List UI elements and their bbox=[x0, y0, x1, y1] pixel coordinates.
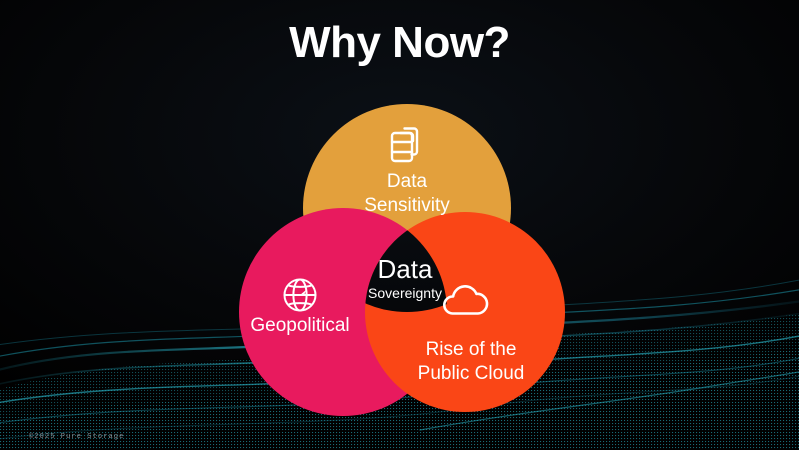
slide-canvas: Why Now? bbox=[0, 0, 799, 450]
data-sensitivity-label-line2: Sensitivity bbox=[364, 195, 450, 216]
public-cloud-label-line2: Public Cloud bbox=[418, 363, 525, 384]
data-sensitivity-label-line1: Data bbox=[387, 171, 428, 192]
copyright-footer: ©2025 Pure Storage bbox=[29, 433, 124, 441]
center-label-data: Data bbox=[378, 254, 433, 284]
venn-diagram: Data Sensitivity Geopolitical Rise of th… bbox=[0, 0, 799, 450]
geopolitical-label: Geopolitical bbox=[250, 315, 349, 336]
public-cloud-label-line1: Rise of the bbox=[426, 339, 517, 360]
center-label-sovereignty: Sovereignty bbox=[368, 285, 442, 301]
